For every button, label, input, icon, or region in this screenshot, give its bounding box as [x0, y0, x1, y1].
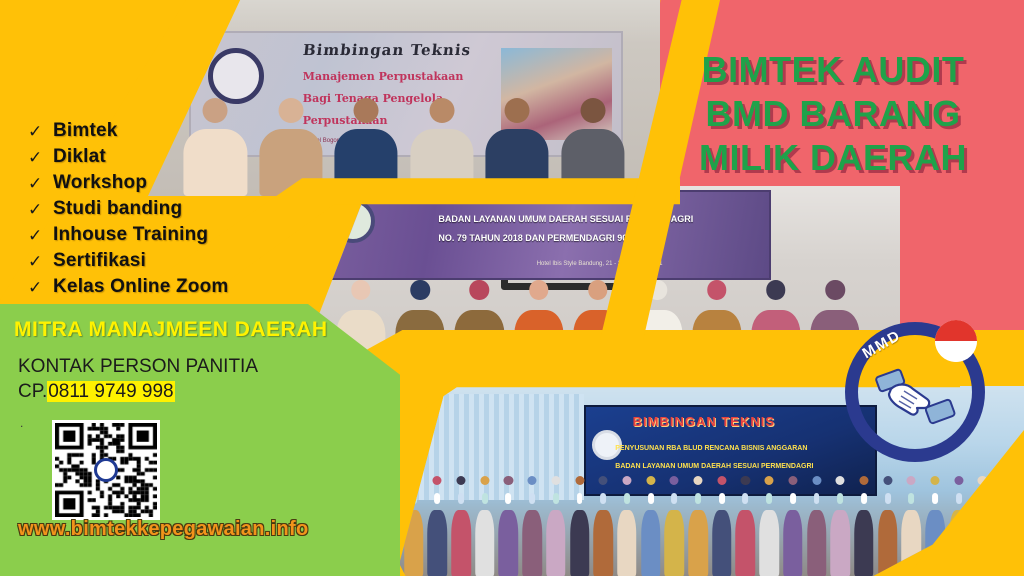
qr-code[interactable] — [52, 420, 160, 520]
checklist-item: ✓Workshop — [28, 170, 288, 196]
face-mask — [837, 493, 843, 504]
face-mask — [885, 493, 891, 504]
person — [568, 470, 591, 576]
check-icon: ✓ — [28, 123, 43, 140]
person — [426, 470, 449, 576]
checklist-item-label: Workshop — [53, 172, 147, 194]
headline-line-1: BIMTEK AUDIT — [648, 48, 1018, 92]
main-headline: BIMTEK AUDITBMD BARANGMILIK DAERAH — [648, 48, 1018, 180]
person — [497, 470, 520, 576]
person — [782, 470, 805, 576]
checklist-item-label: Studi banding — [53, 198, 182, 220]
mmd-logo: MMD — [845, 322, 985, 462]
checklist-item-label: Inhouse Training — [53, 224, 208, 246]
face-mask — [458, 493, 464, 504]
person — [521, 470, 544, 576]
face-mask — [624, 493, 630, 504]
checklist-item: ✓Bimtek — [28, 118, 288, 144]
check-icon: ✓ — [28, 175, 43, 192]
face-mask — [932, 493, 938, 504]
face-mask — [743, 493, 749, 504]
bullet-dot: . — [20, 416, 23, 430]
person — [473, 470, 496, 576]
face-mask — [648, 493, 654, 504]
face-mask — [482, 493, 488, 504]
headline-line-3: MILIK DAERAH — [648, 136, 1018, 180]
check-icon: ✓ — [28, 149, 43, 166]
promotional-poster: Bimbingan Teknis Manajemen Perpustakaan … — [0, 0, 1024, 576]
checklist-item-label: Diklat — [53, 146, 106, 168]
person — [853, 470, 876, 576]
person — [710, 470, 733, 576]
person — [734, 470, 757, 576]
banner-title: Bimbingan Teknis — [302, 41, 472, 59]
face-mask — [719, 493, 725, 504]
person — [687, 470, 710, 576]
banner-title: BIMBINGAN TEKNIS — [633, 414, 775, 429]
person — [450, 470, 473, 576]
qr-center-logo-icon — [94, 458, 118, 482]
website-url[interactable]: www.bimtekkepegawaian.info — [18, 518, 308, 541]
check-icon: ✓ — [28, 227, 43, 244]
checklist-item: ✓Diklat — [28, 144, 288, 170]
check-icon: ✓ — [28, 279, 43, 296]
banner-subtitle-1: Manajemen Perpustakaan — [303, 70, 464, 83]
face-mask — [600, 493, 606, 504]
face-mask — [790, 493, 796, 504]
face-mask — [671, 493, 677, 504]
checklist-item: ✓Sertifikasi — [28, 248, 288, 274]
person — [876, 470, 899, 576]
checklist-item-label: Kelas Online Zoom — [53, 276, 229, 298]
contact-phone-number: CP.0811 9749 998 — [18, 381, 175, 403]
headline-line-2: BMD BARANG — [648, 92, 1018, 136]
face-mask — [861, 493, 867, 504]
checklist-item: ✓Kelas Online Zoom — [28, 274, 288, 300]
check-icon: ✓ — [28, 253, 43, 270]
check-icon: ✓ — [28, 201, 43, 218]
face-mask — [529, 493, 535, 504]
person — [544, 470, 567, 576]
person — [663, 470, 686, 576]
face-mask — [505, 493, 511, 504]
face-mask — [695, 493, 701, 504]
person — [592, 470, 615, 576]
services-checklist: ✓Bimtek✓Diklat✓Workshop✓Studi banding✓In… — [28, 118, 288, 300]
person — [639, 470, 662, 576]
checklist-item: ✓Inhouse Training — [28, 222, 288, 248]
person — [805, 470, 828, 576]
checklist-item-label: Sertifikasi — [53, 250, 146, 272]
face-mask — [908, 493, 914, 504]
contact-label: KONTAK PERSON PANITIA — [18, 356, 258, 378]
brand-name: MITRA MANAJMEEN DAERAH — [14, 318, 328, 342]
face-mask — [766, 493, 772, 504]
face-mask — [434, 493, 440, 504]
phone-number-highlighted: 0811 9749 998 — [47, 381, 174, 402]
face-mask — [814, 493, 820, 504]
handshake-icon — [871, 363, 959, 433]
face-mask — [553, 493, 559, 504]
banner-line-2: PENYUSUNAN RBA BLUD RENCANA BISNIS ANGGA… — [615, 445, 807, 452]
person — [616, 470, 639, 576]
person — [758, 470, 781, 576]
face-mask — [577, 493, 583, 504]
checklist-item-label: Bimtek — [53, 120, 118, 142]
cp-prefix: CP. — [18, 381, 47, 402]
person — [829, 470, 852, 576]
checklist-item: ✓Studi banding — [28, 196, 288, 222]
face-mask — [956, 493, 962, 504]
indonesia-flag-icon — [935, 320, 977, 362]
